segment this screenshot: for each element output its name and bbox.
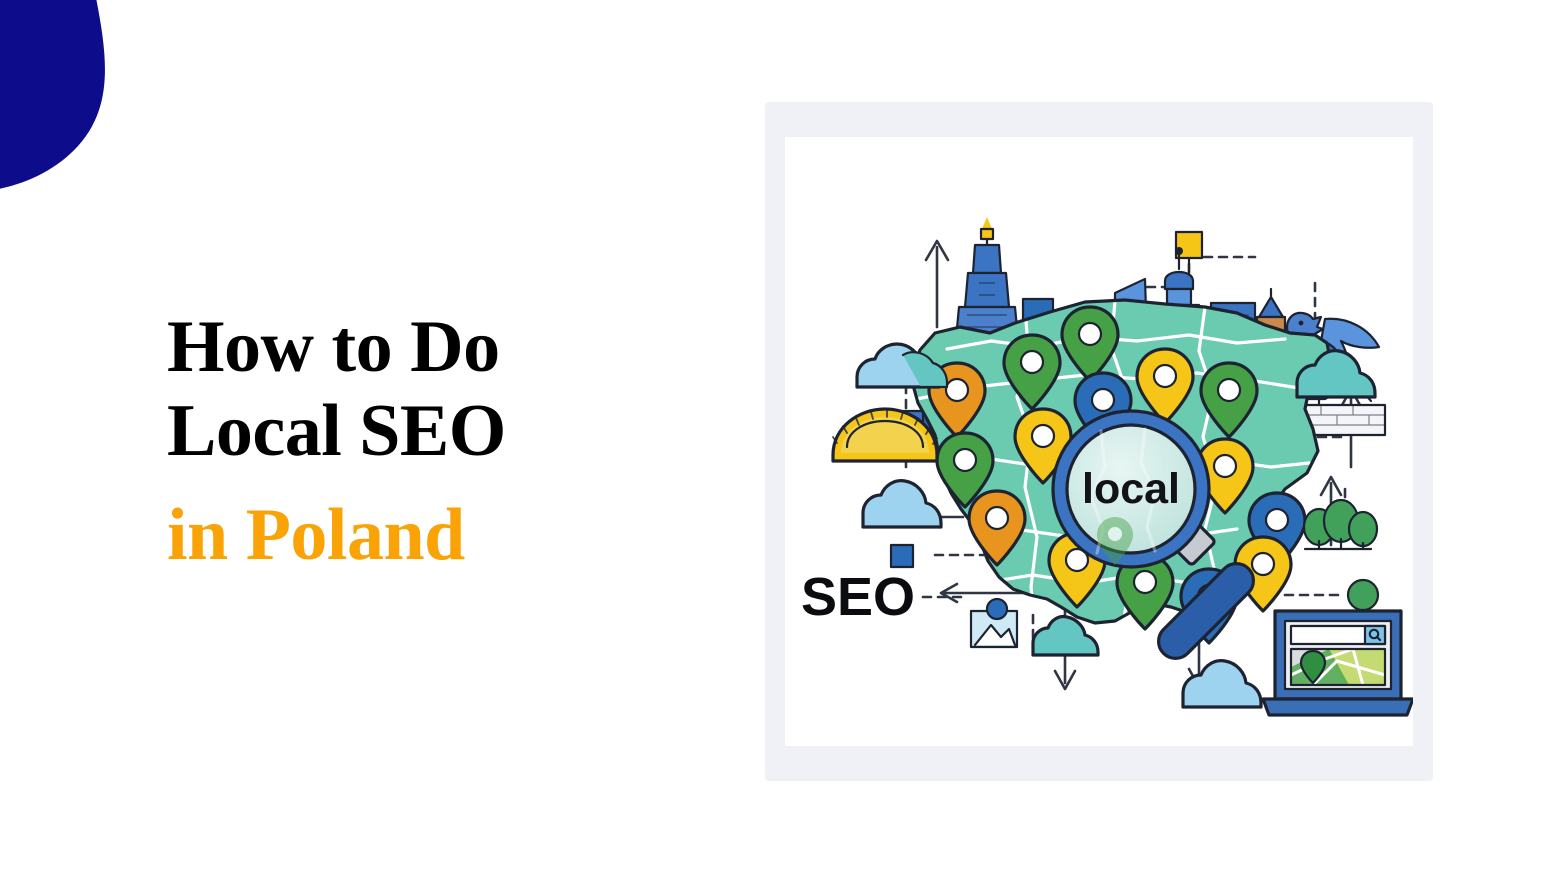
title-line-1: How to Do [167, 305, 687, 389]
illustration-frame: .ol { fill:none; stroke:#1D2330; stroke-… [765, 102, 1433, 781]
navy-blob [0, 0, 106, 198]
image-placeholder-icon [971, 599, 1017, 647]
blue-square-icon [891, 545, 913, 567]
poland-local-seo-illustration: .ol { fill:none; stroke:#1D2330; stroke-… [785, 137, 1413, 746]
magnifier-label: local [1082, 465, 1180, 513]
page-title: How to Do Local SEO in Poland [167, 305, 687, 577]
cloud-icon [863, 481, 941, 527]
green-dot-icon [1348, 580, 1378, 610]
title-line-2: Local SEO [167, 389, 687, 473]
illustration-card: .ol { fill:none; stroke:#1D2330; stroke-… [785, 137, 1413, 746]
cloud-icon [1183, 661, 1261, 707]
trees-icon [1304, 500, 1377, 549]
arrow-icon [926, 241, 948, 327]
title-line-3: in Poland [167, 493, 687, 577]
laptop-map-icon [1263, 611, 1413, 715]
seo-label: SEO [801, 567, 915, 627]
slide-canvas: How to Do Local SEO in Poland .ol { fill… [0, 0, 1568, 882]
